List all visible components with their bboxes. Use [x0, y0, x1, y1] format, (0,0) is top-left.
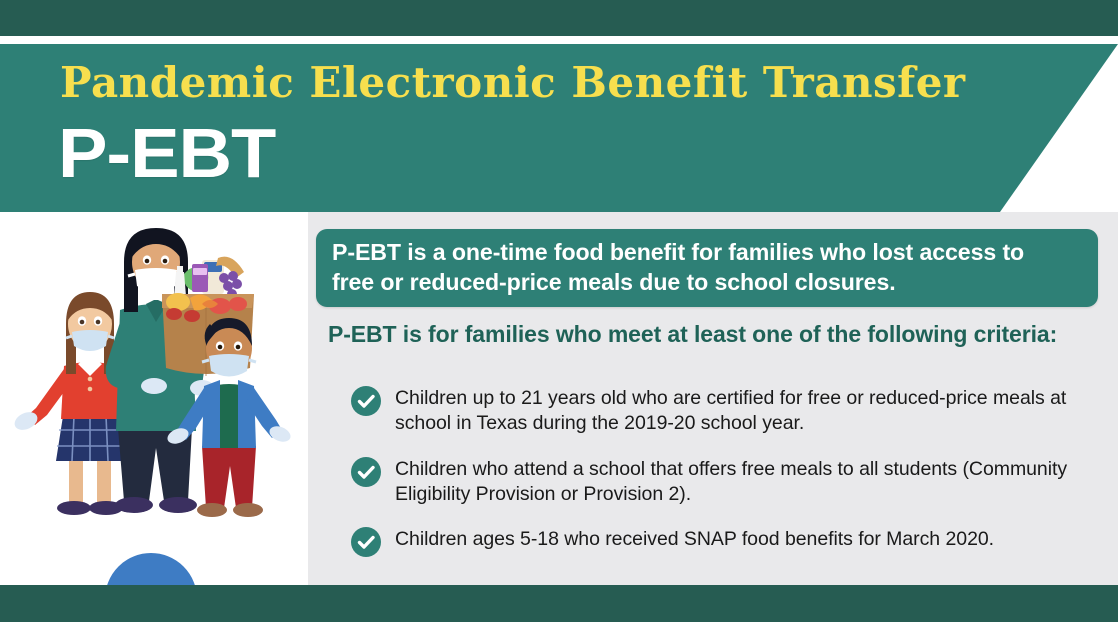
page-title: Pandemic Electronic Benefit Transfer — [60, 62, 966, 104]
list-item: Children ages 5-18 who received SNAP foo… — [350, 525, 1110, 558]
masked-family-with-groceries-illustration — [6, 216, 306, 556]
program-acronym: P-EBT — [58, 118, 275, 188]
top-accent-bar — [0, 0, 1118, 36]
content-panel: P-EBT is a one-time food benefit for fam… — [308, 212, 1118, 585]
illustration-panel — [0, 212, 308, 585]
check-circle-icon — [350, 456, 382, 488]
list-item-label: Children ages 5-18 who received SNAP foo… — [395, 525, 994, 552]
summary-callout-text: P-EBT is a one-time food benefit for fam… — [332, 238, 1071, 297]
list-item: Children up to 21 years old who are cert… — [350, 384, 1110, 437]
check-circle-icon — [350, 385, 382, 417]
criteria-heading: P-EBT is for families who meet at least … — [328, 320, 1083, 349]
check-circle-icon — [350, 526, 382, 558]
summary-callout: P-EBT is a one-time food benefit for fam… — [316, 229, 1098, 307]
bottom-accent-bar — [0, 585, 1118, 622]
blue-circle-logo — [96, 544, 206, 585]
infographic-page: Pandemic Electronic Benefit Transfer P-E… — [0, 0, 1118, 622]
list-item: Children who attend a school that offers… — [350, 455, 1110, 508]
list-item-label: Children up to 21 years old who are cert… — [395, 384, 1110, 437]
list-item-label: Children who attend a school that offers… — [395, 455, 1110, 508]
criteria-list: Children up to 21 years old who are cert… — [350, 384, 1110, 576]
